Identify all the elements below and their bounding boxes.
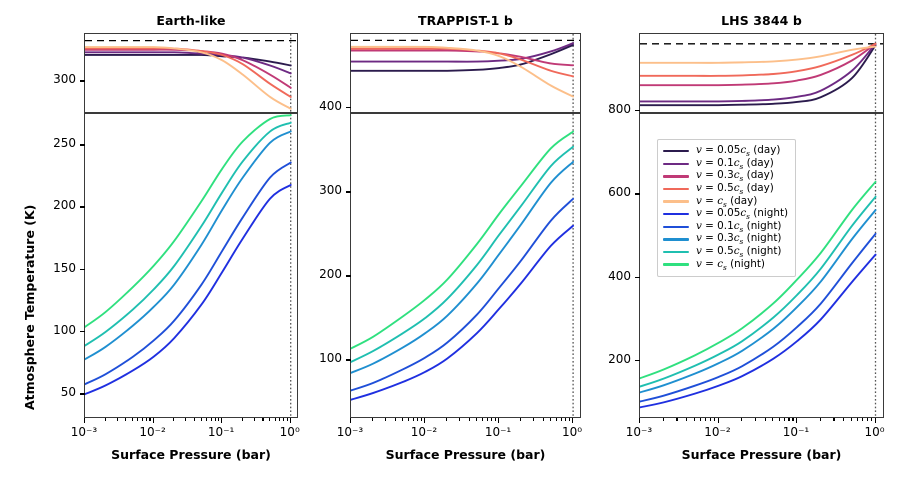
xtick-minor — [871, 418, 872, 421]
xtick-minor — [792, 418, 793, 421]
legend-color-swatch — [663, 226, 689, 228]
xtick-minor — [710, 418, 711, 421]
legend-item: v = 0.5cs (night) — [663, 246, 788, 259]
xtick-minor — [857, 418, 858, 421]
legend-item: v = 0.3cs (day) — [663, 170, 788, 183]
xtick-label: 10⁻³ — [617, 425, 661, 439]
lower-ytick-mark — [635, 193, 640, 195]
legend-item: v = 0.5cs (day) — [663, 183, 788, 196]
xtick-minor — [820, 418, 821, 421]
legend-item: v = 0.05cs (night) — [663, 208, 788, 221]
xtick-minor — [833, 418, 834, 421]
xtick-label: 10⁰ — [853, 425, 897, 439]
xtick-minor — [779, 418, 780, 421]
xtick-minor — [755, 418, 756, 421]
xtick-label: 10⁻¹ — [774, 425, 818, 439]
xtick-minor — [676, 418, 677, 421]
lower-ytick-label: 200 — [589, 352, 631, 366]
lower-ytick-label: 600 — [589, 185, 631, 199]
legend-color-swatch — [663, 213, 689, 215]
upper-ytick-mark — [635, 110, 640, 112]
xtick-minor — [788, 418, 789, 421]
x-axis-label: Surface Pressure (bar) — [639, 447, 884, 462]
legend-item: v = 0.1cs (night) — [663, 221, 788, 234]
legend-color-swatch — [663, 150, 689, 152]
xtick-minor — [843, 418, 844, 421]
legend-item-label: v = cs (night) — [696, 258, 765, 272]
xtick-minor — [867, 418, 868, 421]
legend-item: v = 0.1cs (day) — [663, 158, 788, 171]
legend-color-swatch — [663, 175, 689, 177]
legend-box: v = 0.05cs (day)v = 0.1cs (day)v = 0.3cs… — [657, 139, 796, 277]
legend-color-swatch — [663, 251, 689, 253]
legend-color-swatch — [663, 188, 689, 190]
upper-ytick-label: 800 — [589, 102, 631, 116]
legend-item: v = 0.05cs (day) — [663, 145, 788, 158]
xtick-minor — [686, 418, 687, 421]
xtick-minor — [765, 418, 766, 421]
panel-title: LHS 3844 b — [639, 13, 884, 28]
xtick-mark — [718, 418, 719, 423]
legend-item: v = 0.3cs (night) — [663, 233, 788, 246]
xtick-mark — [796, 418, 797, 423]
upper-subplot-3 — [639, 33, 884, 113]
legend-item: v = cs (day) — [663, 195, 788, 208]
xtick-minor — [851, 418, 852, 421]
lower-ytick-mark — [635, 277, 640, 279]
xtick-mark — [639, 418, 640, 423]
legend-color-swatch — [663, 163, 689, 165]
xtick-minor — [694, 418, 695, 421]
legend-color-swatch — [663, 200, 689, 202]
xtick-mark — [875, 418, 876, 423]
legend-color-swatch — [663, 263, 689, 265]
legend-color-swatch — [663, 238, 689, 240]
xtick-minor — [700, 418, 701, 421]
xtick-minor — [741, 418, 742, 421]
xtick-minor — [862, 418, 863, 421]
lower-ytick-mark — [635, 360, 640, 362]
xtick-minor — [705, 418, 706, 421]
lower-ytick-label: 400 — [589, 269, 631, 283]
xtick-minor — [714, 418, 715, 421]
xtick-minor — [772, 418, 773, 421]
legend-item: v = cs (night) — [663, 258, 788, 271]
figure-canvas: Atmosphere Temperature (K) Earth-like300… — [0, 0, 897, 498]
xtick-minor — [663, 418, 664, 421]
xtick-label: 10⁻² — [696, 425, 740, 439]
xtick-minor — [784, 418, 785, 421]
